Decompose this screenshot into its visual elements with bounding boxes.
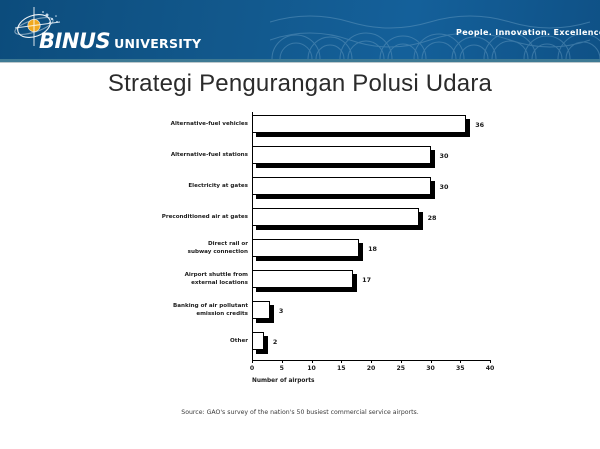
category-label-line: Direct rail or <box>120 240 248 248</box>
bar-body <box>252 177 431 195</box>
value-axis-tick <box>371 360 372 363</box>
slide-title: Strategi Pengurangan Polusi Udara <box>0 70 600 98</box>
category-label-line: emission credits <box>120 310 248 318</box>
bar-value-label: 36 <box>475 121 484 129</box>
bar-body <box>252 239 359 257</box>
bar-value-label: 3 <box>279 307 283 315</box>
bar-value-label: 28 <box>428 214 437 222</box>
value-axis-tick <box>252 360 253 363</box>
bar <box>252 270 358 288</box>
category-label-line: Other <box>120 337 248 345</box>
category-label: Airport shuttle fromexternal locations <box>120 271 248 287</box>
chart-plot-area: 36303028181732 <box>252 112 490 360</box>
value-axis-tick <box>460 360 461 363</box>
category-label-line: Electricity at gates <box>120 182 248 190</box>
value-axis-tick <box>401 360 402 363</box>
value-axis-tick-label: 5 <box>270 365 294 372</box>
bar <box>252 177 436 195</box>
source-note: Source: GAO's survey of the nation's 50 … <box>0 409 600 416</box>
bar <box>252 146 436 164</box>
bar-value-label: 17 <box>362 276 371 284</box>
bar <box>252 239 364 257</box>
brand-primary-text: BINUS <box>39 29 110 53</box>
header-underline-secondary <box>0 62 600 63</box>
category-label-line: subway connection <box>120 248 248 256</box>
value-axis-tick-label: 35 <box>448 365 472 372</box>
category-label: Alternative-fuel stations <box>120 151 248 159</box>
header-tagline: People. Innovation. Excellence. <box>456 28 600 37</box>
value-axis-tick-label: 10 <box>300 365 324 372</box>
binus-logo: BINUSUNIVERSITY <box>12 6 192 54</box>
value-axis-tick <box>490 360 491 363</box>
category-label: Electricity at gates <box>120 182 248 190</box>
bar-value-label: 18 <box>368 245 377 253</box>
value-axis-tick <box>312 360 313 363</box>
value-axis-tick-label: 40 <box>478 365 502 372</box>
value-axis-tick-label: 0 <box>240 365 264 372</box>
bar-body <box>252 208 419 226</box>
presentation-slide: BINUSUNIVERSITY People. Innovation. Exce… <box>0 0 600 449</box>
value-axis-tick-label: 25 <box>389 365 413 372</box>
category-axis-labels: Alternative-fuel vehiclesAlternative-fue… <box>120 112 248 360</box>
bar-body <box>252 146 431 164</box>
value-axis-tick <box>282 360 283 363</box>
category-label-line: Preconditioned air at gates <box>120 213 248 221</box>
category-label: Preconditioned air at gates <box>120 213 248 221</box>
category-label-line: Alternative-fuel stations <box>120 151 248 159</box>
value-axis-tick-label: 15 <box>329 365 353 372</box>
brand-secondary-text: UNIVERSITY <box>114 36 201 51</box>
category-label: Alternative-fuel vehicles <box>120 120 248 128</box>
bar <box>252 115 471 133</box>
bar-value-label: 30 <box>440 183 449 191</box>
binus-wordmark: BINUSUNIVERSITY <box>39 31 201 52</box>
bar-value-label: 2 <box>273 338 277 346</box>
category-label-line: Banking of air pollutant <box>120 302 248 310</box>
bar-value-label: 30 <box>440 152 449 160</box>
slide-header-banner: BINUSUNIVERSITY People. Innovation. Exce… <box>0 0 600 59</box>
category-label-line: external locations <box>120 279 248 287</box>
category-label: Banking of air pollutantemission credits <box>120 302 248 318</box>
bar-body <box>252 115 466 133</box>
value-axis-tick-label: 20 <box>359 365 383 372</box>
bar-body <box>252 332 264 350</box>
value-axis-tick-label: 30 <box>419 365 443 372</box>
category-label-line: Alternative-fuel vehicles <box>120 120 248 128</box>
bar <box>252 208 424 226</box>
value-axis-tick <box>431 360 432 363</box>
bar-body <box>252 270 353 288</box>
value-axis-title: Number of airports <box>252 378 314 384</box>
bar-body <box>252 301 270 319</box>
category-label: Other <box>120 337 248 345</box>
category-label: Direct rail orsubway connection <box>120 240 248 256</box>
bar <box>252 332 269 350</box>
bar-chart: Alternative-fuel vehiclesAlternative-fue… <box>0 112 600 412</box>
value-axis-tick <box>341 360 342 363</box>
category-label-line: Airport shuttle from <box>120 271 248 279</box>
value-axis: Number of airports 0510152025303540 <box>252 360 491 400</box>
bar <box>252 301 275 319</box>
